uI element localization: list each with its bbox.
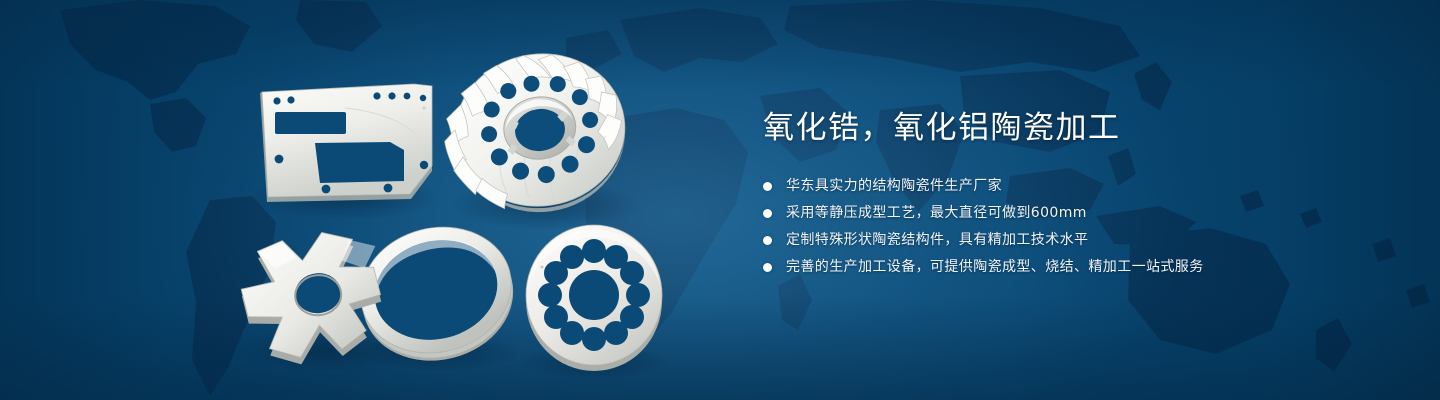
list-item-label: 采用等静压成型工艺，最大直径可做到600mm — [786, 205, 1087, 221]
bullet-dot-icon — [763, 263, 772, 272]
list-item-label: 华东具实力的结构陶瓷件生产厂家 — [786, 178, 1002, 194]
ceramic-perforated-disc — [526, 225, 662, 371]
feature-list: 华东具实力的结构陶瓷件生产厂家 采用等静压成型工艺，最大直径可做到600mm 定… — [763, 176, 1403, 278]
list-item: 华东具实力的结构陶瓷件生产厂家 — [763, 176, 1403, 197]
list-item: 采用等静压成型工艺，最大直径可做到600mm — [763, 203, 1403, 224]
ceramic-products-image — [0, 0, 720, 400]
bullet-dot-icon — [763, 182, 772, 191]
banner-copy: 氧化锆，氧化铝陶瓷加工 华东具实力的结构陶瓷件生产厂家 采用等静压成型工艺，最大… — [763, 108, 1403, 284]
page-title: 氧化锆，氧化铝陶瓷加工 — [763, 108, 1403, 148]
list-item-label: 定制特殊形状陶瓷结构件，具有精加工技术水平 — [786, 232, 1088, 248]
list-item: 完善的生产加工设备，可提供陶瓷成型、烧结、精加工一站式服务 — [763, 257, 1403, 278]
ceramic-machined-plate — [260, 84, 432, 202]
bullet-dot-icon — [763, 236, 772, 245]
list-item: 定制特殊形状陶瓷结构件，具有精加工技术水平 — [763, 230, 1403, 251]
promo-banner: 氧化锆，氧化铝陶瓷加工 华东具实力的结构陶瓷件生产厂家 采用等静压成型工艺，最大… — [0, 0, 1440, 400]
bullet-dot-icon — [763, 209, 772, 218]
list-item-label: 完善的生产加工设备，可提供陶瓷成型、烧结、精加工一站式服务 — [786, 259, 1204, 275]
